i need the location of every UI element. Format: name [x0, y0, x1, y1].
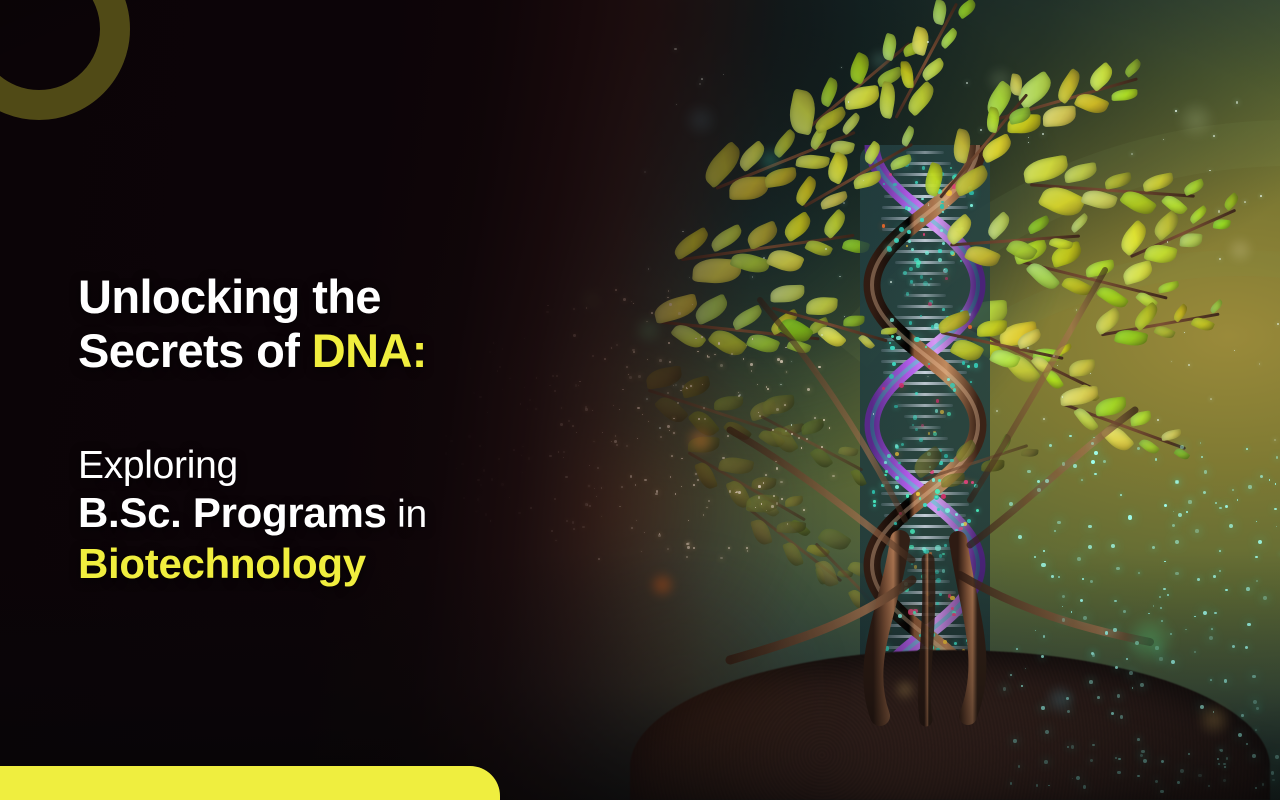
biotechnology-hero-banner: Unlocking the Secrets of DNA: Exploring …: [0, 0, 1280, 800]
subheading-biotechnology: Biotechnology: [78, 539, 598, 589]
headline-line-2-plain: Secrets of: [78, 324, 312, 377]
subheading-in: in: [387, 493, 427, 536]
subheading-line-2: B.Sc. Programs in: [78, 488, 598, 539]
headline-line-1: Unlocking the: [78, 270, 598, 324]
subheading: Exploring B.Sc. Programs in Biotechnolog…: [78, 444, 598, 589]
subheading-programs: B.Sc. Programs: [78, 489, 387, 536]
headline: Unlocking the Secrets of DNA:: [78, 270, 598, 377]
headline-accent-dna: DNA:: [312, 324, 427, 377]
subheading-line-1: Exploring: [78, 444, 598, 488]
decorative-bottom-bar: [0, 766, 500, 800]
headline-line-2: Secrets of DNA:: [78, 324, 598, 378]
banner-copy: Unlocking the Secrets of DNA: Exploring …: [78, 270, 598, 589]
